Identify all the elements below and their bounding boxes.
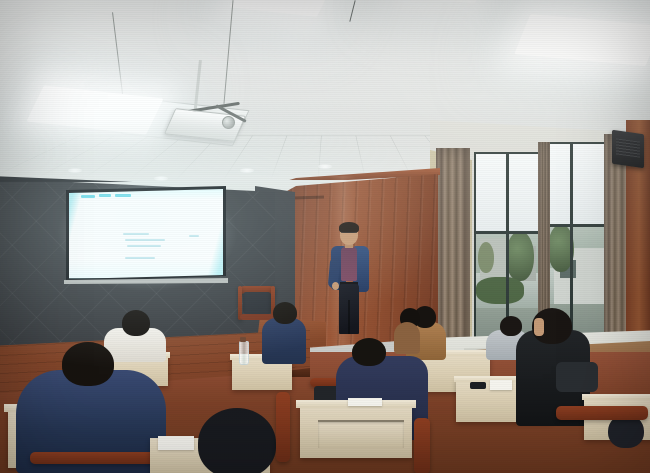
slide-line-a bbox=[123, 233, 149, 235]
projection-screen[interactable] bbox=[69, 189, 223, 278]
slide-line-b bbox=[125, 239, 165, 241]
desk-far-right-top bbox=[582, 394, 650, 400]
mobile-phone-icon[interactable] bbox=[470, 382, 486, 389]
attendee-grey-top-head bbox=[500, 316, 522, 336]
downlight-d-icon bbox=[318, 164, 332, 169]
attendee-white-top-head bbox=[122, 310, 150, 336]
chair-back-right-front[interactable] bbox=[556, 406, 648, 420]
downlight-a-icon bbox=[68, 168, 82, 173]
outside-hedge bbox=[476, 277, 524, 304]
presenter-hand bbox=[332, 282, 339, 290]
paper-sheet-center[interactable] bbox=[348, 398, 382, 406]
side-chair-back-pad bbox=[243, 292, 271, 314]
curtain-panel-a bbox=[436, 148, 470, 346]
water-bottle-icon bbox=[239, 341, 249, 365]
chair-back-foreground-left[interactable] bbox=[30, 452, 170, 464]
attendee-black-hoodie-hood bbox=[556, 362, 598, 392]
slide-line-e bbox=[189, 235, 199, 237]
outside-tree-b bbox=[478, 242, 494, 273]
outside-tree-a bbox=[506, 231, 534, 281]
window-mullion-horizontal bbox=[548, 224, 606, 227]
slide-tab-c bbox=[115, 194, 131, 197]
attendee-navy-stage-right-body bbox=[262, 318, 306, 364]
chair-arm-center[interactable] bbox=[276, 392, 290, 462]
slide-line-d bbox=[125, 257, 155, 259]
presenter-leg-split bbox=[348, 300, 350, 334]
attendee-black-hoodie-face bbox=[534, 318, 544, 336]
paper-sheet-right[interactable] bbox=[490, 380, 512, 390]
attendee-navy-suit-head bbox=[352, 338, 386, 366]
water-bottle-cap bbox=[240, 337, 246, 342]
slide-tab-b bbox=[99, 194, 111, 197]
slide-tab-a bbox=[81, 195, 95, 198]
presenter bbox=[326, 224, 372, 334]
paper-sheet-bottom[interactable] bbox=[158, 436, 194, 450]
downlight-c-icon bbox=[240, 168, 254, 173]
chair-arm-right[interactable] bbox=[414, 418, 430, 473]
presenter-sweater bbox=[341, 247, 357, 281]
attendee-navy-foreground-left-head bbox=[62, 342, 114, 386]
attendee-dark-hair-center-head bbox=[198, 408, 276, 473]
attendee-navy-stage-right-head bbox=[273, 302, 297, 324]
slide-line-c bbox=[127, 245, 161, 247]
desk-drawer-open[interactable] bbox=[318, 420, 404, 448]
attendee-dark-hair-back-body bbox=[394, 322, 420, 354]
speaker-grille bbox=[616, 138, 640, 157]
window-mullion-vertical bbox=[570, 144, 573, 344]
eyeglasses-icon bbox=[341, 232, 357, 236]
conference-room-photo: Interior photograph of a training/meetin… bbox=[0, 0, 650, 473]
